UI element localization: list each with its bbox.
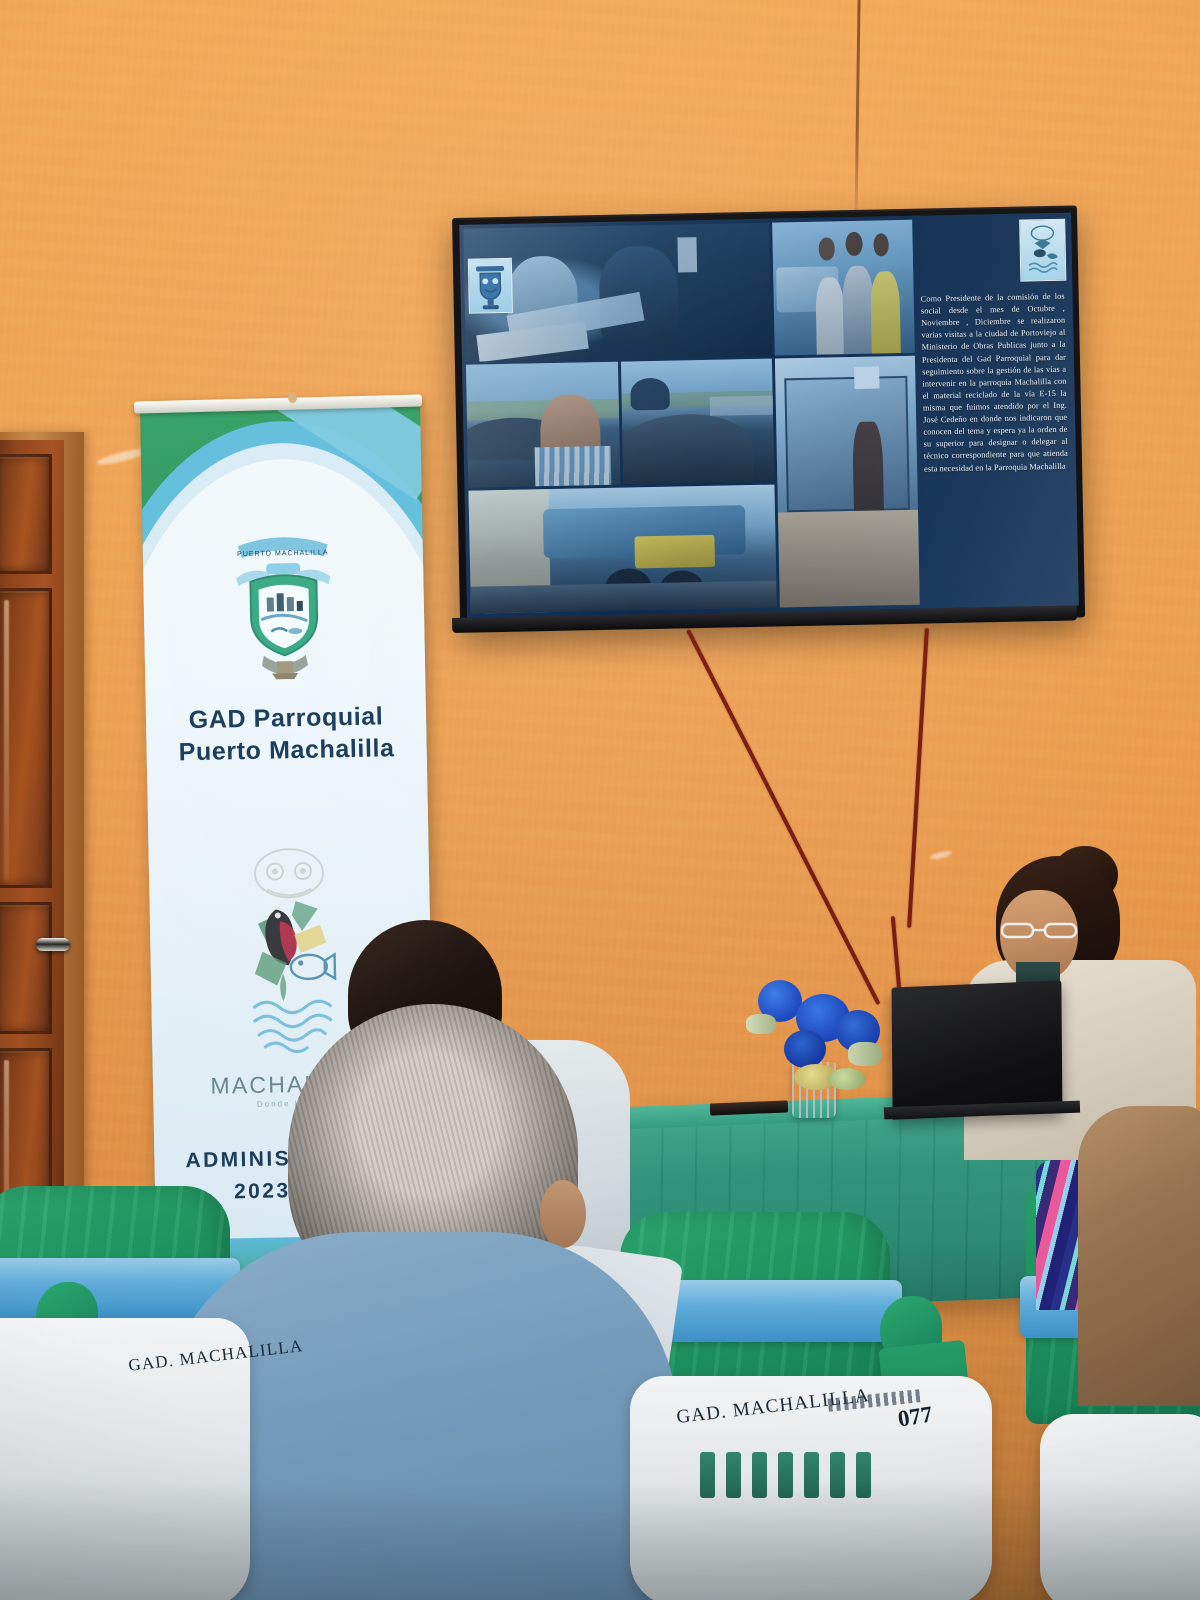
banner-title: GAD Parroquial Puerto Machalilla [146, 701, 427, 769]
machalilla-brand-icon [236, 838, 345, 1076]
door-panel-top [0, 454, 52, 574]
chair-front-center-number: 077 [896, 1401, 934, 1432]
gad-coat-of-arms-icon [468, 258, 513, 314]
foreground-shadow [0, 1480, 1200, 1600]
banner-title-line-2: Puerto Machalilla [146, 732, 427, 769]
machalilla-logo-icon [1019, 219, 1066, 282]
photo-roadside-interview [466, 362, 620, 488]
photo-building-entrance [775, 356, 920, 608]
wooden-door[interactable] [0, 440, 64, 1312]
wall-mounted-tv[interactable]: Como Presidente de la comisión de los so… [452, 205, 1085, 629]
photo-road-grader [468, 485, 777, 614]
banner-coat-of-arms-icon: PUERTO MACHALILLA [219, 518, 348, 680]
photo-office-group [773, 220, 915, 356]
svg-text:PUERTO MACHALILLA: PUERTO MACHALILLA [237, 549, 329, 558]
person-gray-haired-man-ear [540, 1180, 586, 1248]
presentation-slide: Como Presidente de la comisión de los so… [459, 213, 1079, 618]
door-handle[interactable] [36, 938, 70, 951]
flower-arrangement [740, 976, 890, 1086]
door-highlight [4, 600, 9, 880]
eyeglasses-icon [1000, 922, 1078, 939]
photo-road-gravel [621, 358, 775, 484]
person-attendee-hair [1078, 1106, 1200, 1406]
door-panel-mid [0, 902, 52, 1034]
banner-rail-knob [288, 392, 297, 403]
laptop-screen[interactable] [892, 980, 1063, 1119]
meeting-room-photo: Como Presidente de la comisión de los so… [0, 0, 1200, 1600]
tv-screen: Como Presidente de la comisión de los so… [459, 213, 1079, 618]
